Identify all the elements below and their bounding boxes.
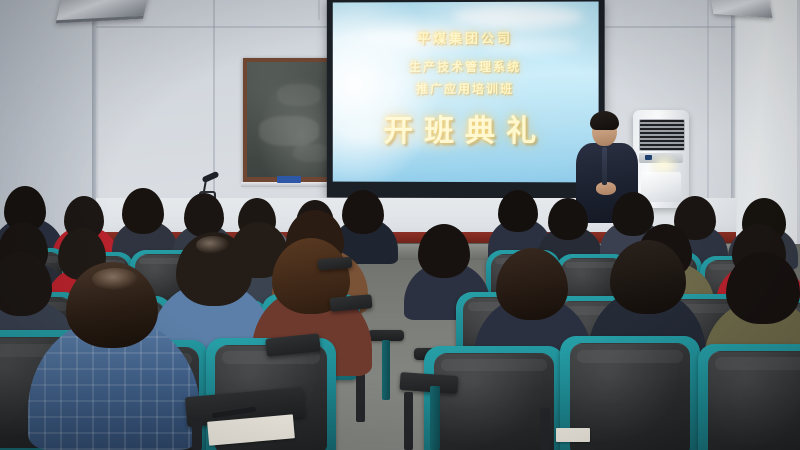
chalk-smudge — [259, 116, 319, 146]
blackboard-surface — [247, 62, 339, 177]
projection-screen: 平煤集团公司 生产技术管理系统 推广应用培训班 开班典礼 — [327, 0, 605, 199]
seat-leg — [192, 418, 202, 450]
audience-head — [498, 190, 538, 232]
seat-writing-tablet[interactable] — [318, 257, 353, 270]
audience-head — [342, 190, 384, 234]
seat-leg — [404, 392, 413, 450]
seat-leg — [540, 408, 550, 450]
audience-head — [548, 198, 588, 240]
chalk-smudge — [277, 84, 321, 106]
slide-line-1: 平煤集团公司 — [333, 28, 599, 48]
foreground-attendee-head-highlight — [92, 268, 138, 290]
wall-seam — [318, 0, 320, 20]
audience-head — [418, 224, 470, 278]
chalk-smudge — [293, 144, 331, 162]
slide-line-2: 生产技术管理系统 — [333, 58, 599, 75]
presenter-hair — [590, 111, 619, 130]
slide-line-3: 推广应用培训班 — [333, 80, 599, 97]
presenter-shirt-placket — [602, 147, 607, 185]
blackboard-eraser — [277, 176, 301, 183]
seat-leg — [430, 386, 440, 450]
cloud — [452, 6, 582, 28]
auditorium-seat[interactable] — [698, 344, 800, 450]
audience-head-highlight — [196, 236, 230, 254]
audience-head — [122, 188, 164, 234]
lecture-hall-photo: 平煤集团公司 生产技术管理系统 推广应用培训班 开班典礼 — [0, 0, 800, 450]
notebook[interactable] — [556, 428, 590, 442]
slide-title: 开班典礼 — [333, 106, 599, 150]
seat-leg — [382, 340, 390, 400]
air-conditioner-grille — [639, 119, 685, 151]
projection-screen-surface: 平煤集团公司 生产技术管理系统 推广应用培训班 开班典礼 — [333, 2, 599, 183]
audience-head — [184, 193, 224, 237]
